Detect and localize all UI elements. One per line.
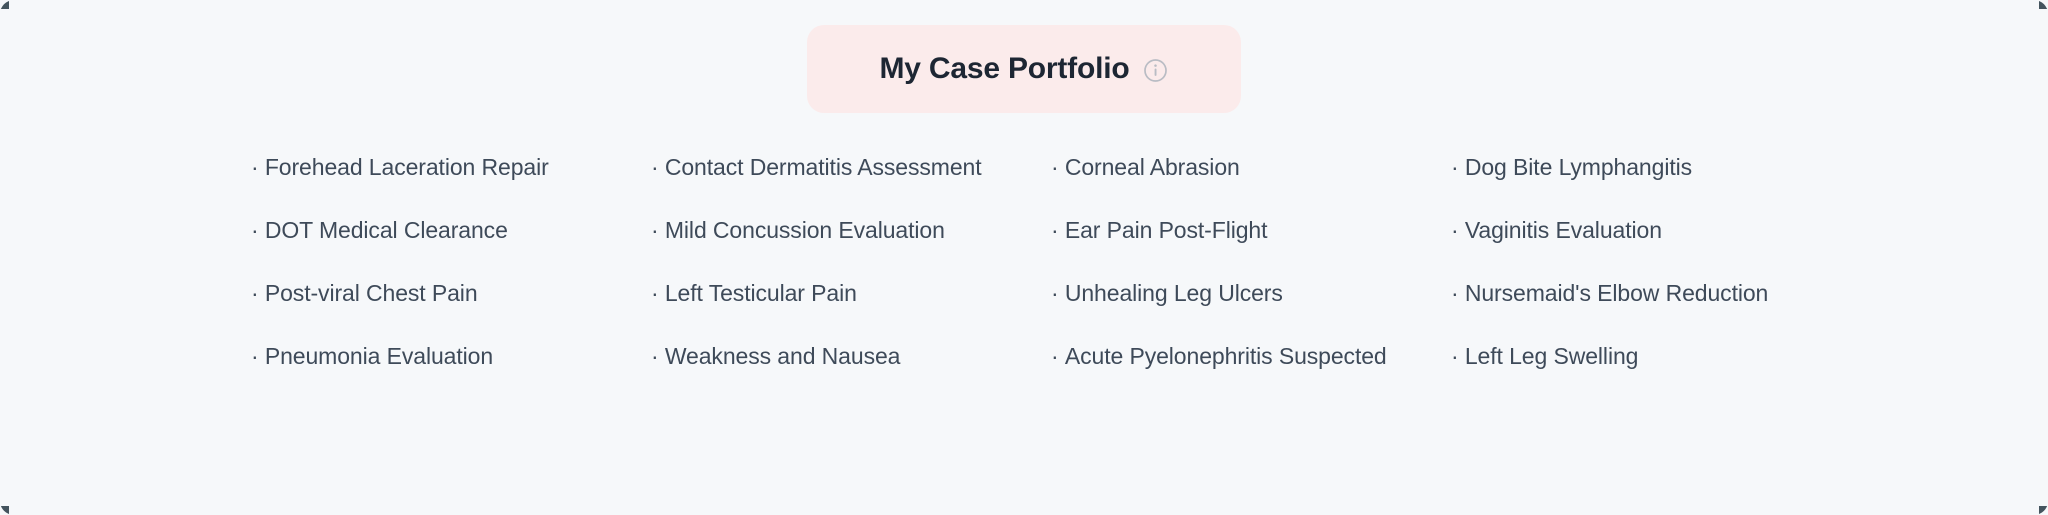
list-item[interactable]: DOT Medical Clearance <box>251 213 591 247</box>
panel-corner-top-left <box>0 0 9 9</box>
list-item[interactable]: Ear Pain Post-Flight <box>1051 213 1391 247</box>
list-item[interactable]: Vaginitis Evaluation <box>1451 213 1791 247</box>
panel-corner-top-right <box>2039 0 2048 9</box>
list-item[interactable]: Dog Bite Lymphangitis <box>1451 150 1791 184</box>
list-item[interactable]: Acute Pyelonephritis Suspected <box>1051 339 1391 373</box>
list-item[interactable]: Contact Dermatitis Assessment <box>651 150 991 184</box>
list-item[interactable]: Left Testicular Pain <box>651 276 991 310</box>
list-item[interactable]: Weakness and Nausea <box>651 339 991 373</box>
page-title: My Case Portfolio <box>880 52 1130 86</box>
list-item[interactable]: Unhealing Leg Ulcers <box>1051 276 1391 310</box>
list-item[interactable]: Pneumonia Evaluation <box>251 339 591 373</box>
list-item[interactable]: Left Leg Swelling <box>1451 339 1791 373</box>
list-item[interactable]: Corneal Abrasion <box>1051 150 1391 184</box>
case-column-3: Corneal Abrasion Ear Pain Post-Flight Un… <box>1051 150 1451 402</box>
list-item[interactable]: Nursemaid's Elbow Reduction <box>1451 276 1791 310</box>
list-item[interactable]: Post-viral Chest Pain <box>251 276 591 310</box>
list-item[interactable]: Forehead Laceration Repair <box>251 150 591 184</box>
list-item[interactable]: Mild Concussion Evaluation <box>651 213 991 247</box>
case-column-1: Forehead Laceration Repair DOT Medical C… <box>251 150 651 402</box>
case-list-columns: Forehead Laceration Repair DOT Medical C… <box>251 150 1951 402</box>
panel-corner-bottom-right <box>2039 506 2048 515</box>
page-title-badge: My Case Portfolio <box>807 25 1241 113</box>
case-column-4: Dog Bite Lymphangitis Vaginitis Evaluati… <box>1451 150 1851 402</box>
case-column-2: Contact Dermatitis Assessment Mild Concu… <box>651 150 1051 402</box>
info-circle-icon[interactable] <box>1143 58 1168 83</box>
panel-corner-bottom-left <box>0 506 9 515</box>
case-portfolio-panel: My Case Portfolio Forehead Laceration Re… <box>0 0 2048 515</box>
